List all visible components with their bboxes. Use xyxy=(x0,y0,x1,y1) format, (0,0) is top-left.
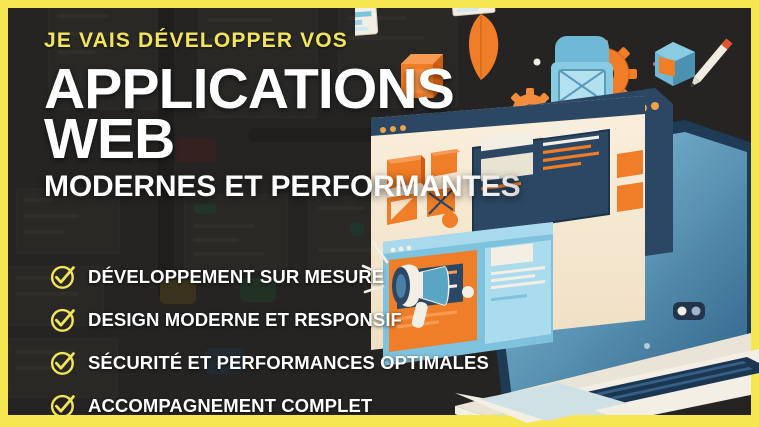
list-item: DÉVELOPPEMENT SUR MESURE xyxy=(50,258,489,296)
wireframe-window-icon xyxy=(617,150,643,178)
list-item: ACCOMPAGNEMENT COMPLET xyxy=(50,387,489,415)
list-item: SÉCURITÉ ET PERFORMANCES OPTIMALES xyxy=(50,344,489,382)
list-card-icon xyxy=(451,8,495,16)
laptop-camera-icon xyxy=(673,302,705,320)
poster-inner-panel: JE VAIS DÉVELOPPER VOS APPLICATIONS WEB … xyxy=(8,8,751,415)
headline-subline: MODERNES ET PERFORMANTES xyxy=(44,172,604,202)
promo-poster: JE VAIS DÉVELOPPER VOS APPLICATIONS WEB … xyxy=(0,0,759,427)
check-circle-icon xyxy=(50,393,76,415)
wireframe-window-icon xyxy=(617,182,643,212)
list-item-label: ACCOMPAGNEMENT COMPLET xyxy=(88,395,372,415)
list-item-label: DÉVELOPPEMENT SUR MESURE xyxy=(88,266,384,288)
feature-list: DÉVELOPPEMENT SUR MESURE DESIGN MODERNE … xyxy=(50,258,489,415)
kicker-text: JE VAIS DÉVELOPPER VOS xyxy=(44,30,604,51)
image-placeholder-icon xyxy=(655,42,695,86)
list-item-label: SÉCURITÉ ET PERFORMANCES OPTIMALES xyxy=(88,352,489,374)
headline-block: JE VAIS DÉVELOPPER VOS APPLICATIONS WEB … xyxy=(44,30,604,202)
check-circle-icon xyxy=(50,350,76,376)
check-circle-icon xyxy=(50,264,76,290)
list-item: DESIGN MODERNE ET RESPONSIF xyxy=(50,301,489,339)
headline-line-2: WEB xyxy=(44,113,604,165)
dot-decoration xyxy=(442,212,458,228)
dot-decoration xyxy=(644,343,650,349)
list-item-label: DESIGN MODERNE ET RESPONSIF xyxy=(88,309,402,331)
check-circle-icon xyxy=(50,307,76,333)
